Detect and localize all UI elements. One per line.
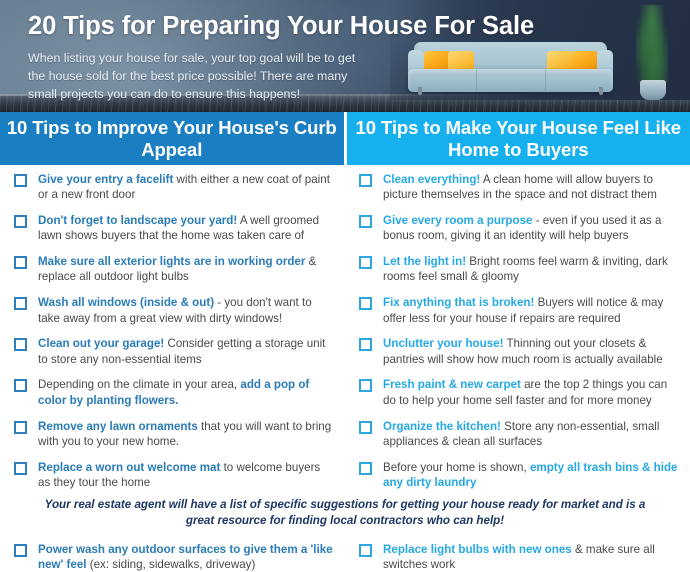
tip-item[interactable]: Organize the kitchen! Store any non-esse… — [359, 419, 678, 450]
checkbox-icon[interactable] — [14, 215, 27, 228]
tip-highlight: Make sure all exterior lights are in wor… — [38, 255, 305, 268]
tips-column-feel-like-home: Clean everything! A clean home will allo… — [345, 168, 690, 490]
tip-detail: (ex: siding, sidewalks, driveway) — [87, 558, 256, 571]
checkbox-icon[interactable] — [14, 544, 27, 557]
hero-text-block: 20 Tips for Preparing Your House For Sal… — [28, 12, 458, 104]
tip-highlight: Clean out your garage! — [38, 337, 164, 350]
tip-item[interactable]: Replace a worn out welcome mat to welcom… — [14, 460, 333, 491]
checkbox-icon[interactable] — [14, 379, 27, 392]
tip-item[interactable]: Fresh paint & new carpet are the top 2 t… — [359, 377, 678, 408]
checkbox-icon[interactable] — [14, 174, 27, 187]
tip-detail: Before your home is shown, — [383, 461, 530, 474]
tip-text: Let the light in! Bright rooms feel warm… — [383, 254, 678, 285]
couch-leg — [599, 87, 603, 95]
checkbox-icon[interactable] — [359, 174, 372, 187]
tip-text: Fresh paint & new carpet are the top 2 t… — [383, 377, 678, 408]
tip-text: Make sure all exterior lights are in wor… — [38, 254, 333, 285]
tip-item[interactable]: Clean everything! A clean home will allo… — [359, 172, 678, 203]
tip-text: Organize the kitchen! Store any non-esse… — [383, 419, 678, 450]
tip-item[interactable]: Give your entry a facelift with either a… — [14, 172, 333, 203]
tip-highlight: Don't forget to landscape your yard! — [38, 214, 237, 227]
tip-highlight: Unclutter your house! — [383, 337, 503, 350]
tip-text: Unclutter your house! Thinning out your … — [383, 336, 678, 367]
checkbox-icon[interactable] — [359, 256, 372, 269]
tip-text: Power wash any outdoor surfaces to give … — [38, 542, 333, 572]
column-heading-feel-like-home: 10 Tips to Make Your House Feel Like Hom… — [347, 112, 690, 165]
tip-highlight: Give every room a purpose — [383, 214, 533, 227]
tips-column-curb-appeal: Give your entry a facelift with either a… — [0, 168, 345, 490]
checkbox-icon[interactable] — [359, 338, 372, 351]
tip-item[interactable]: Before your home is shown, empty all tra… — [359, 460, 678, 491]
tip-item[interactable]: Wash all windows (inside & out) - you do… — [14, 295, 333, 326]
tip-item[interactable]: Unclutter your house! Thinning out your … — [359, 336, 678, 367]
page-subtitle: When listing your house for sale, your t… — [28, 50, 363, 104]
tip-text: Replace light bulbs with new ones & make… — [383, 542, 678, 572]
tip-highlight: Remove any lawn ornaments — [38, 420, 198, 433]
checkbox-icon[interactable] — [14, 421, 27, 434]
tip-highlight: Fix anything that is broken! — [383, 296, 534, 309]
infographic-root: 20 Tips for Preparing Your House For Sal… — [0, 0, 690, 544]
checkbox-icon[interactable] — [14, 462, 27, 475]
checkbox-icon[interactable] — [359, 215, 372, 228]
tip-text: Before your home is shown, empty all tra… — [383, 460, 678, 491]
checkbox-icon[interactable] — [14, 338, 27, 351]
tip-text: Depending on the climate in your area, a… — [38, 377, 333, 408]
tip-text: Wash all windows (inside & out) - you do… — [38, 295, 333, 326]
tip-text: Replace a worn out welcome mat to welcom… — [38, 460, 333, 491]
footer-banner: Your real estate agent will have a list … — [0, 490, 690, 544]
tip-text: Remove any lawn ornaments that you will … — [38, 419, 333, 450]
tip-item[interactable]: Make sure all exterior lights are in wor… — [14, 254, 333, 285]
tip-text: Give every room a purpose - even if you … — [383, 213, 678, 244]
checkbox-icon[interactable] — [359, 462, 372, 475]
tip-item[interactable]: Let the light in! Bright rooms feel warm… — [359, 254, 678, 285]
tip-highlight: Clean everything! — [383, 173, 480, 186]
tip-highlight: Let the light in! — [383, 255, 466, 268]
tip-item[interactable]: Remove any lawn ornaments that you will … — [14, 419, 333, 450]
potted-plant-pot-icon — [640, 80, 666, 100]
tip-highlight: Organize the kitchen! — [383, 420, 501, 433]
checkbox-icon[interactable] — [359, 544, 372, 557]
tip-item[interactable]: Depending on the climate in your area, a… — [14, 377, 333, 408]
tip-text: Give your entry a facelift with either a… — [38, 172, 333, 203]
tip-item[interactable]: Replace light bulbs with new ones & make… — [359, 542, 678, 572]
column-heading-curb-appeal: 10 Tips to Improve Your House's Curb App… — [0, 112, 344, 165]
checkbox-icon[interactable] — [359, 379, 372, 392]
cushion-seam — [476, 70, 477, 91]
tip-text: Fix anything that is broken! Buyers will… — [383, 295, 678, 326]
checkbox-icon[interactable] — [359, 297, 372, 310]
tip-highlight: Give your entry a facelift — [38, 173, 173, 186]
column-header-bars: 10 Tips to Improve Your House's Curb App… — [0, 112, 690, 165]
tip-item[interactable]: Don't forget to landscape your yard! A w… — [14, 213, 333, 244]
tip-detail: Depending on the climate in your area, — [38, 378, 240, 391]
checkbox-icon[interactable] — [14, 297, 27, 310]
potted-plant-foliage-icon — [636, 5, 668, 83]
tip-highlight: Replace a worn out welcome mat — [38, 461, 220, 474]
tip-highlight: Wash all windows (inside & out) — [38, 296, 214, 309]
checkbox-icon[interactable] — [359, 421, 372, 434]
cushion-seam — [545, 70, 546, 91]
tip-item[interactable]: Clean out your garage! Consider getting … — [14, 336, 333, 367]
tip-text: Don't forget to landscape your yard! A w… — [38, 213, 333, 244]
tip-item[interactable]: Power wash any outdoor surfaces to give … — [14, 542, 333, 572]
tip-item[interactable]: Give every room a purpose - even if you … — [359, 213, 678, 244]
tip-highlight: Fresh paint & new carpet — [383, 378, 521, 391]
checkbox-icon[interactable] — [14, 256, 27, 269]
tips-columns: Give your entry a facelift with either a… — [0, 168, 690, 490]
footer-note: Your real estate agent will have a list … — [40, 497, 650, 528]
page-title: 20 Tips for Preparing Your House For Sal… — [28, 12, 458, 41]
tip-highlight: Replace light bulbs with new ones — [383, 543, 572, 556]
tip-text: Clean everything! A clean home will allo… — [383, 172, 678, 203]
hero-banner: 20 Tips for Preparing Your House For Sal… — [0, 0, 690, 112]
tip-text: Clean out your garage! Consider getting … — [38, 336, 333, 367]
tip-item[interactable]: Fix anything that is broken! Buyers will… — [359, 295, 678, 326]
